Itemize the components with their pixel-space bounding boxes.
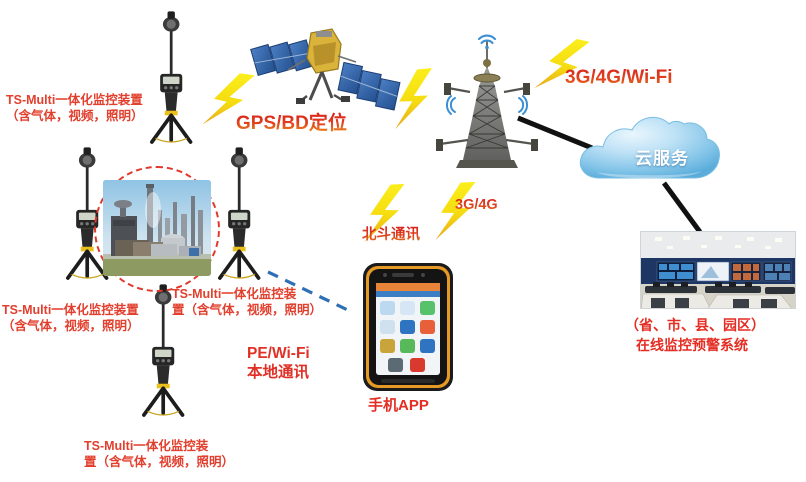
label-mobile-app: 手机APP: [368, 396, 429, 415]
label-device-mid-right: TS-Multi一体化监控装 置（含气体，视频，照明）: [172, 286, 357, 318]
diagram-canvas: 云服务: [0, 0, 806, 482]
label-monitor-center-line2: 在线监控预警系统: [636, 336, 748, 354]
tripod-monitor-right: [220, 147, 259, 278]
cell-tower-icon: [436, 36, 538, 168]
cloud-service-label: 云服务: [617, 144, 707, 169]
link-cloud-to-control-room: [664, 183, 700, 232]
label-device-mid-left: TS-Multi一体化监控装置 （含气体，视频，照明）: [2, 302, 197, 334]
label-3g-4g: 3G/4G: [455, 196, 498, 215]
label-gps-bd: GPS/BD定位: [236, 112, 347, 136]
label-pe-wifi-local: PE/Wi-Fi 本地通讯: [247, 344, 310, 383]
label-3g-4g-wifi: 3G/4G/Wi-Fi: [565, 66, 673, 90]
label-beidou-comm: 北斗通讯: [362, 226, 420, 245]
label-device-top-left: TS-Multi一体化监控装置 （含气体，视频，照明）: [6, 92, 201, 124]
label-device-bottom: TS-Multi一体化监控装 置（含气体，视频，照明）: [84, 438, 269, 470]
label-monitor-center-line1: （省、市、县、园区）: [625, 316, 765, 334]
rugged-tablet-icon: [363, 263, 453, 391]
industrial-plant-photo: [103, 180, 211, 276]
satellite-icon: [251, 29, 402, 110]
control-room-photo: [640, 231, 796, 309]
